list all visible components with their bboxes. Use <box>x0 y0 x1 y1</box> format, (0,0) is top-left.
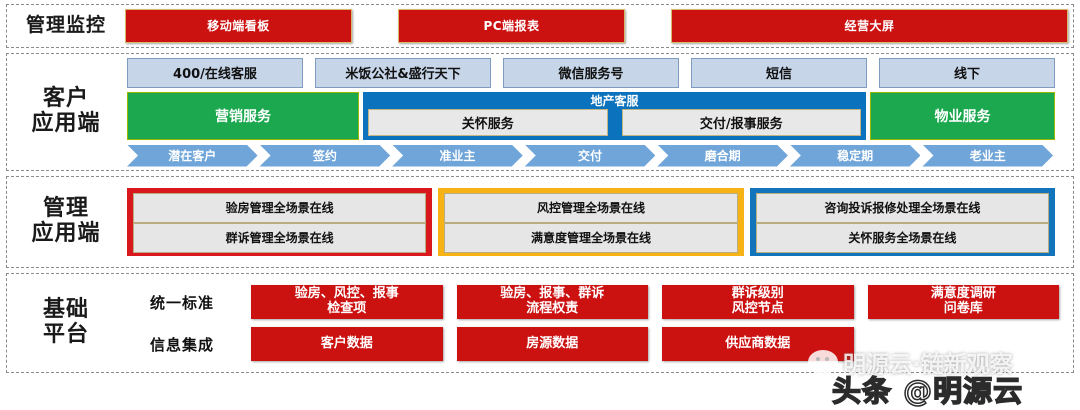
service-realestate-customer-service[interactable]: 地产客服 关怀服务 交付/报事服务 <box>363 92 866 140</box>
management-group-inspection-complaint: 验房管理全场景在线 群诉管理全场景在线 <box>127 188 432 256</box>
foundation-cell-0-line1: 验房、风控、报事 <box>295 286 399 301</box>
section-label-customer-line2: 应用端 <box>7 112 125 137</box>
section-label-base-line2: 平台 <box>7 323 125 348</box>
section-foundation-platform: 基础 平台 统一标准 验房、风控、报事 检查项 验房、报事、群诉 <box>6 273 1074 373</box>
flow-stage-prospective-owner: 准业主 <box>392 145 523 167</box>
service-property[interactable]: 物业服务 <box>870 92 1055 140</box>
customer-lifecycle-flow: 潜在客户 签约 准业主 交付 磨合期 稳定期 老业主 <box>125 140 1073 167</box>
section-label-mgmt-line2: 应用端 <box>7 222 125 247</box>
foundation-cell-3-line2: 问卷库 <box>944 301 983 316</box>
flow-stage-delivery: 交付 <box>525 145 656 167</box>
flow-stage-contract-signed: 签约 <box>260 145 391 167</box>
service-realestate-title: 地产客服 <box>364 93 865 109</box>
mgmt-item-house-inspection-management[interactable]: 验房管理全场景在线 <box>133 193 426 223</box>
foundation-row-unified-standard: 统一标准 验房、风控、报事 检查项 验房、报事、群诉 流程权责 <box>127 285 1059 319</box>
foundation-cell-2-line1: 群诉级别 <box>732 286 784 301</box>
foundation-body: 统一标准 验房、风控、报事 检查项 验房、报事、群诉 流程权责 <box>125 274 1073 372</box>
foundation-cell-satisfaction-questionnaire[interactable]: 满意度调研 问卷库 <box>868 285 1060 319</box>
mgmt-item-group-complaint-management[interactable]: 群诉管理全场景在线 <box>133 223 426 253</box>
foundation-rows: 统一标准 验房、风控、报事 检查项 验房、报事、群诉 流程权责 <box>125 274 1073 372</box>
section-label-base-line1: 基础 <box>7 298 125 323</box>
section-label-mgmt-line1: 管理 <box>7 197 125 222</box>
flow-stage-long-term-owner: 老业主 <box>922 145 1053 167</box>
management-group-risk-satisfaction: 风控管理全场景在线 满意度管理全场景在线 <box>438 188 743 256</box>
foundation-cell-0-line2: 检查项 <box>327 301 366 316</box>
customer-service-row: 营销服务 地产客服 关怀服务 交付/报事服务 物业服务 <box>125 92 1073 140</box>
customer-channel-row: 400/在线客服 米饭公社&盛行天下 微信服务号 短信 线下 <box>125 58 1073 92</box>
channel-mifan-shengxing[interactable]: 米饭公社&盛行天下 <box>315 58 491 88</box>
channel-offline[interactable]: 线下 <box>879 58 1055 88</box>
mgmt-item-care-service[interactable]: 关怀服务全场景在线 <box>756 223 1049 253</box>
foundation-cell-supplier-data[interactable]: 供应商数据 <box>662 327 854 361</box>
flow-stage-potential-customer: 潜在客户 <box>127 145 258 167</box>
monitoring-item-pc-report[interactable]: PC端报表 <box>398 9 625 43</box>
mgmt-item-consult-complaint-repair[interactable]: 咨询投诉报修处理全场景在线 <box>756 193 1049 223</box>
foundation-cell-3-line1: 满意度调研 <box>931 286 996 301</box>
section-label-foundation-platform: 基础 平台 <box>7 298 125 347</box>
foundation-cell-process-responsibility[interactable]: 验房、报事、群诉 流程权责 <box>457 285 649 319</box>
customer-body: 400/在线客服 米饭公社&盛行天下 微信服务号 短信 线下 营销服务 地产客服… <box>125 54 1073 170</box>
section-label-customer-application: 客户 应用端 <box>7 87 125 136</box>
mgmt-item-satisfaction-management[interactable]: 满意度管理全场景在线 <box>444 223 737 253</box>
foundation-cell-1-line2: 流程权责 <box>526 301 578 316</box>
management-body: 验房管理全场景在线 群诉管理全场景在线 风控管理全场景在线 满意度管理全场景在线… <box>125 177 1073 267</box>
foundation-rowlabel-unified-standard: 统一标准 <box>127 292 237 313</box>
service-care[interactable]: 关怀服务 <box>368 109 608 136</box>
foundation-cell-complaint-risk-node[interactable]: 群诉级别 风控节点 <box>662 285 854 319</box>
foundation-row-information-integration: 信息集成 客户数据 房源数据 供应商数据 <box>127 327 1059 361</box>
channel-wechat-service-account[interactable]: 微信服务号 <box>503 58 679 88</box>
monitoring-body: 移动端看板 PC端报表 经营大屏 <box>125 5 1080 47</box>
section-management-monitoring: 管理监控 移动端看板 PC端报表 经营大屏 <box>6 4 1074 48</box>
channel-sms[interactable]: 短信 <box>691 58 867 88</box>
management-group-consult-care: 咨询投诉报修处理全场景在线 关怀服务全场景在线 <box>750 188 1055 256</box>
monitoring-item-operation-bigscreen[interactable]: 经营大屏 <box>671 9 1068 43</box>
foundation-cell-customer-data[interactable]: 客户数据 <box>251 327 443 361</box>
foundation-cell-inspection-risk-report-items[interactable]: 验房、风控、报事 检查项 <box>251 285 443 319</box>
flow-stage-adjustment-period: 磨合期 <box>657 145 788 167</box>
management-groups-row: 验房管理全场景在线 群诉管理全场景在线 风控管理全场景在线 满意度管理全场景在线… <box>125 188 1073 256</box>
watermark-toutiao: 头条 @明源云 <box>832 368 1023 410</box>
foundation-rowlabel-information-integration: 信息集成 <box>127 334 237 355</box>
foundation-cell-property-data[interactable]: 房源数据 <box>457 327 649 361</box>
section-customer-application: 客户 应用端 400/在线客服 米饭公社&盛行天下 微信服务号 短信 线下 营销… <box>6 53 1074 171</box>
mgmt-item-risk-control-management[interactable]: 风控管理全场景在线 <box>444 193 737 223</box>
flow-stage-stable-period: 稳定期 <box>790 145 921 167</box>
foundation-cell-empty-slot <box>868 327 1060 361</box>
monitoring-items-row: 移动端看板 PC端报表 经营大屏 <box>125 9 1080 43</box>
section-label-management-monitoring: 管理监控 <box>7 15 125 36</box>
section-management-application: 管理 应用端 验房管理全场景在线 群诉管理全场景在线 风控管理全场景在线 满意度… <box>6 176 1074 268</box>
monitoring-item-mobile-dashboard[interactable]: 移动端看板 <box>125 9 352 43</box>
architecture-diagram: 管理监控 移动端看板 PC端报表 经营大屏 客户 应用端 400/在线客服 米饭… <box>0 0 1080 408</box>
service-marketing[interactable]: 营销服务 <box>127 92 359 140</box>
service-realestate-subitems: 关怀服务 交付/报事服务 <box>364 109 865 139</box>
section-label-customer-line1: 客户 <box>7 87 125 112</box>
section-label-management-application: 管理 应用端 <box>7 197 125 246</box>
channel-400-online-service[interactable]: 400/在线客服 <box>127 58 303 88</box>
service-delivery-repair[interactable]: 交付/报事服务 <box>622 109 862 136</box>
foundation-cell-1-line1: 验房、报事、群诉 <box>500 286 604 301</box>
foundation-cell-2-line2: 风控节点 <box>732 301 784 316</box>
